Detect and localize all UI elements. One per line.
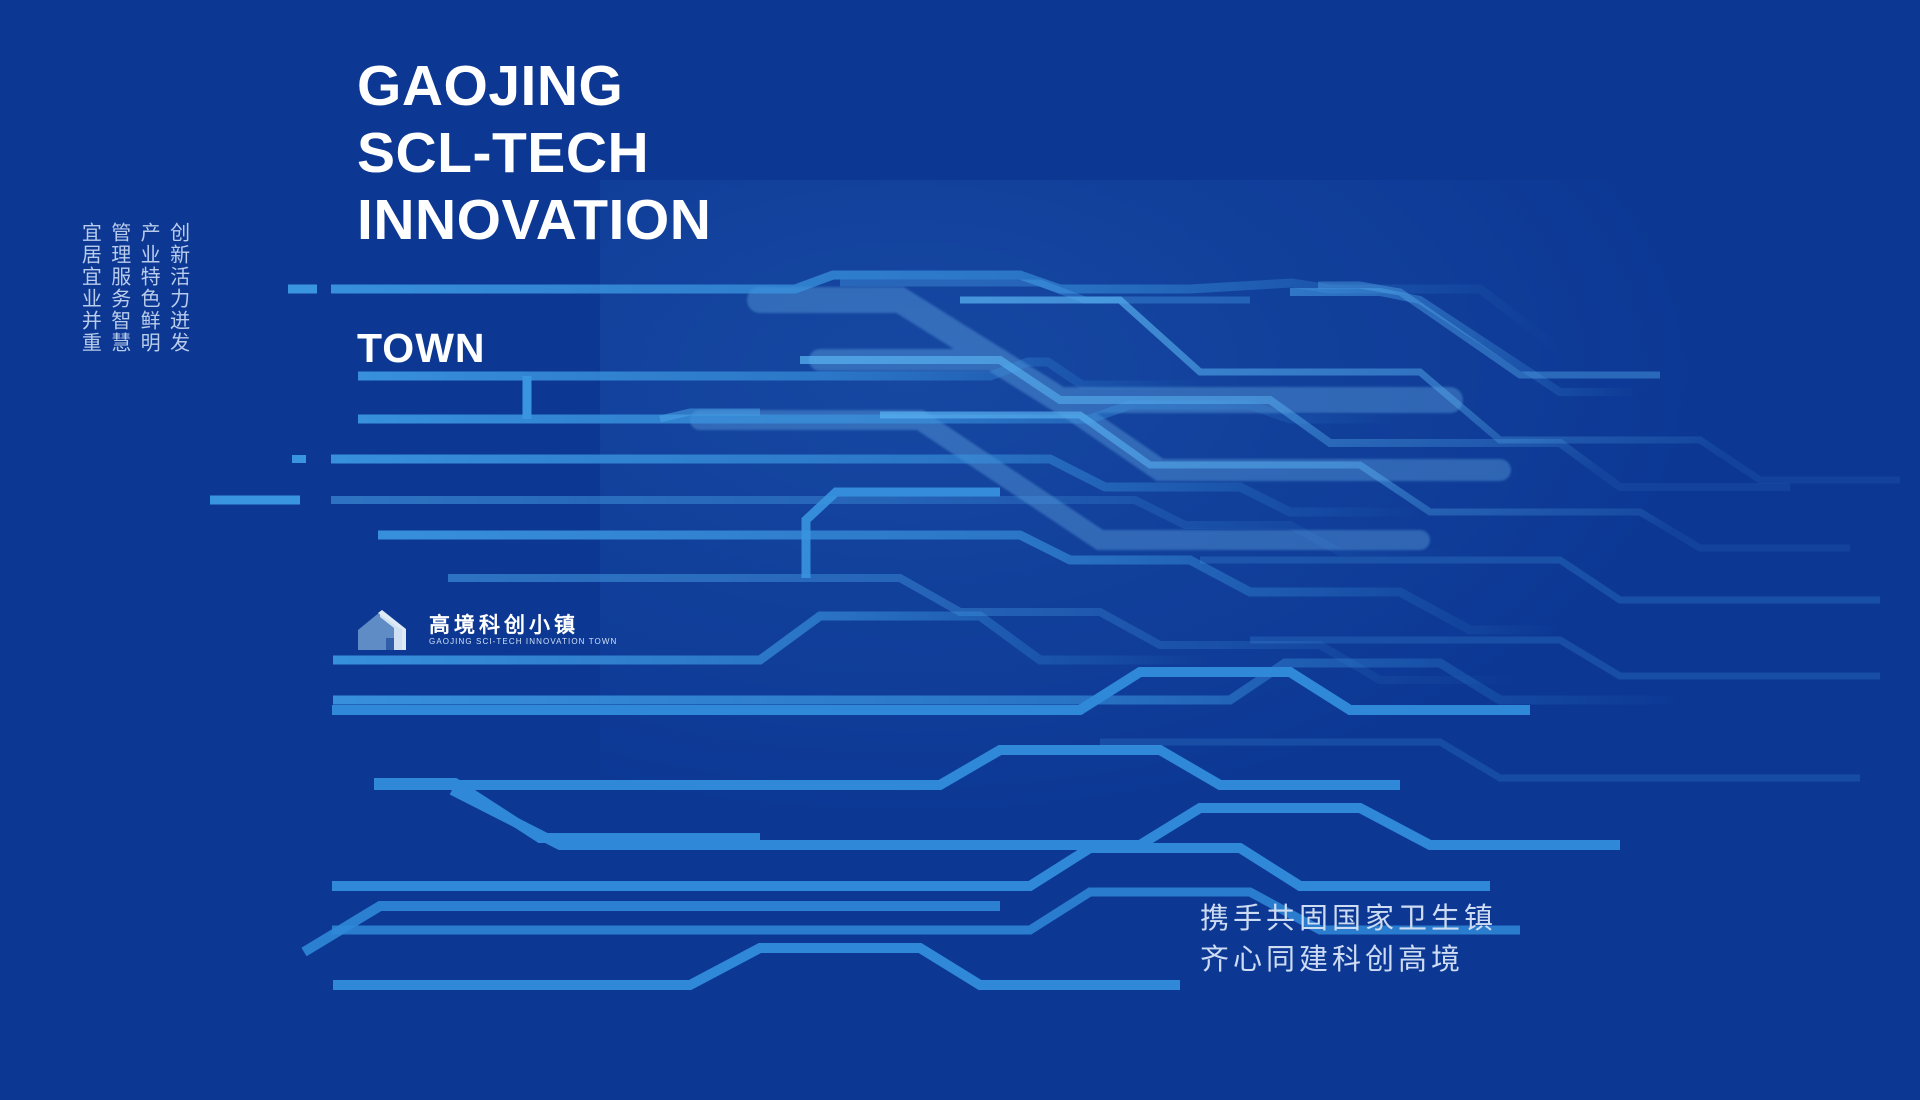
logo-name-cn: 高境科创小镇 — [429, 615, 617, 636]
bottom-slogan-line-1: 携手共固国家卫生镇 — [1200, 898, 1497, 939]
vertical-slogan: 创新活力迸发 产业特色鲜明 管理服务智慧 宜居宜业并重 — [78, 222, 191, 354]
page-title: GAOJING SCL-TECH INNOVATION — [357, 58, 711, 249]
poster-canvas: GAOJING SCL-TECH INNOVATION TOWN 创新活力迸发 … — [0, 0, 1920, 1100]
vertical-slogan-col-4: 宜居宜业并重 — [78, 222, 102, 354]
logo-text-block: 高境科创小镇 GAOJING SCI-TECH INNOVATION TOWN — [429, 615, 617, 646]
circuit-trace-artwork — [0, 0, 1920, 1100]
title-line-2: SCL-TECH — [357, 125, 711, 182]
logo-lockup: 高境科创小镇 GAOJING SCI-TECH INNOVATION TOWN — [356, 608, 617, 652]
vertical-slogan-col-3: 管理服务智慧 — [107, 222, 131, 354]
house-roof-icon — [356, 608, 418, 652]
bottom-slogan-line-2: 齐心同建科创高境 — [1200, 939, 1497, 980]
vertical-slogan-col-2: 产业特色鲜明 — [137, 222, 161, 354]
logo-name-en: GAOJING SCI-TECH INNOVATION TOWN — [429, 638, 617, 646]
trace-group-logo-row — [333, 492, 1680, 700]
title-line-4-town: TOWN — [357, 325, 486, 372]
bottom-slogan: 携手共固国家卫生镇 齐心同建科创高境 — [1200, 898, 1497, 980]
vertical-slogan-col-1: 创新活力迸发 — [166, 222, 190, 354]
title-line-1: GAOJING — [357, 58, 711, 115]
title-line-3: INNOVATION — [357, 192, 711, 249]
